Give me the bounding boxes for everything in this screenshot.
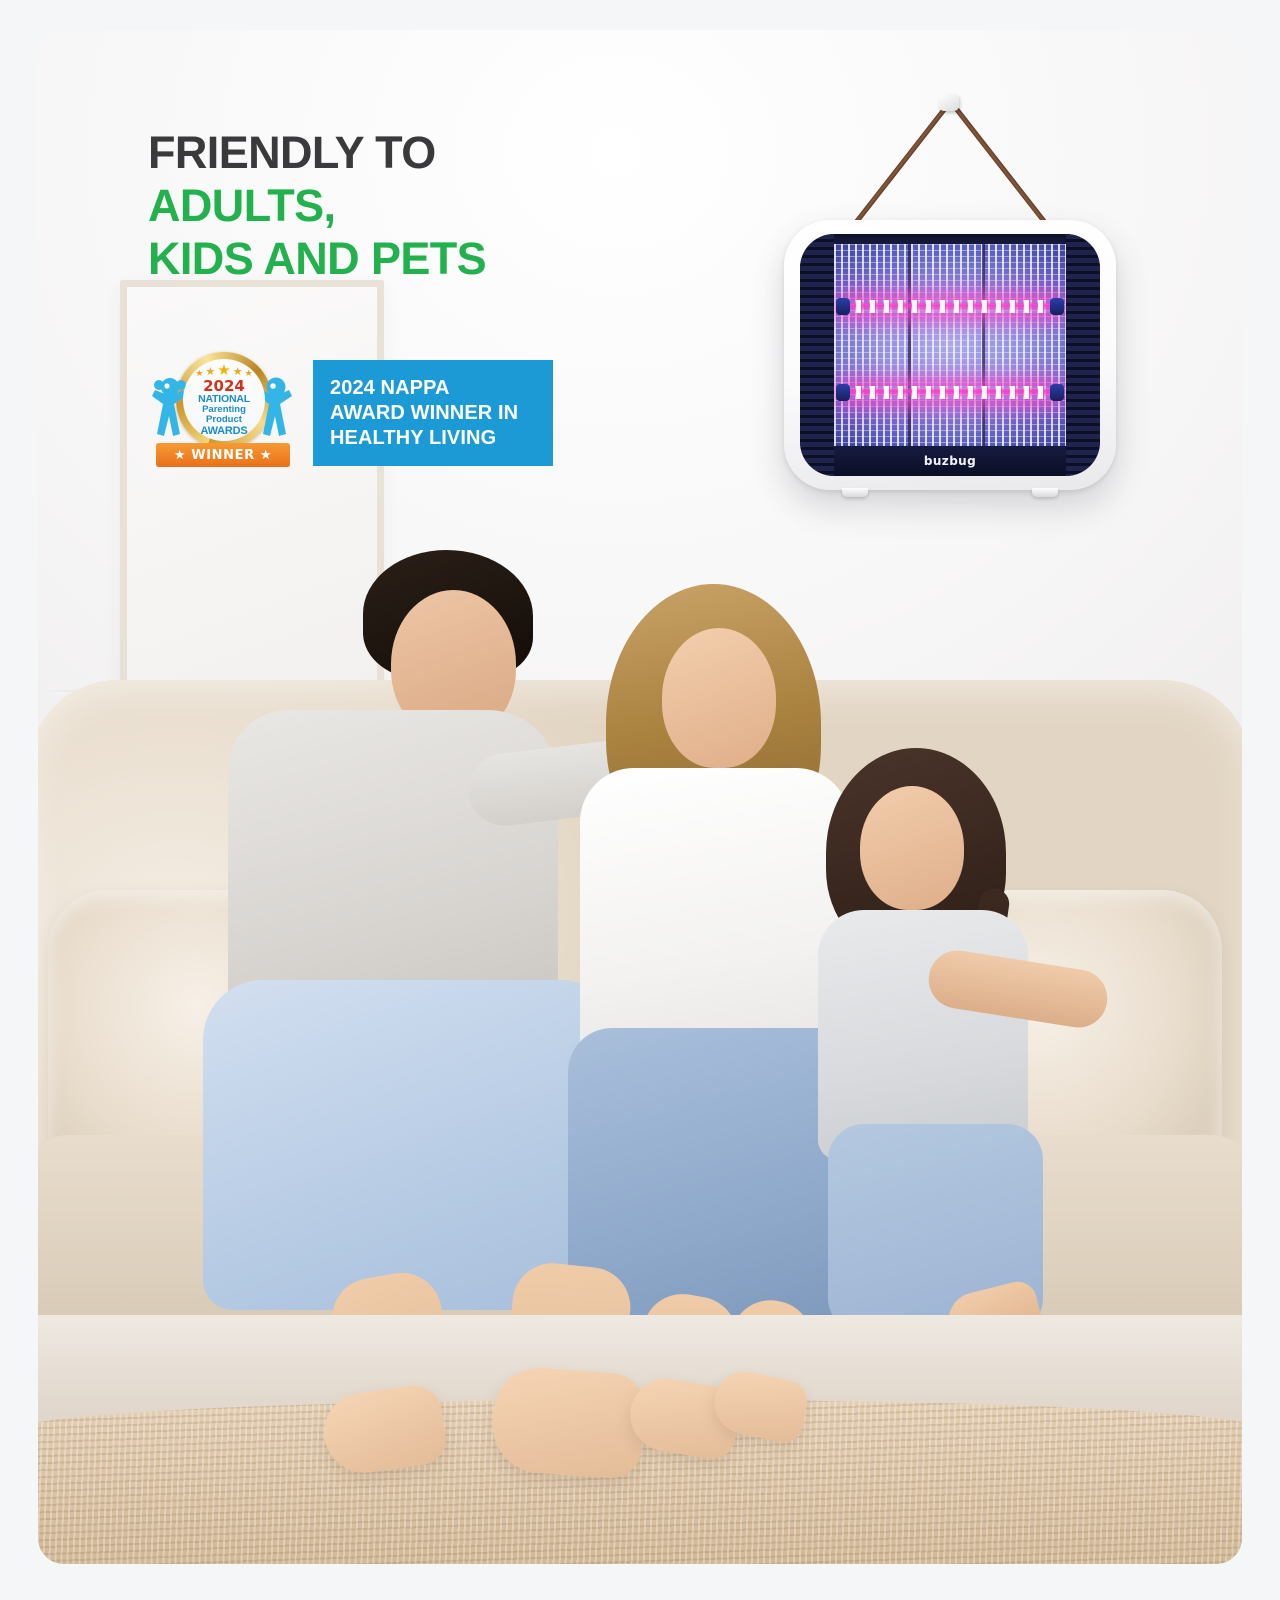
led-cap-top-left [836, 298, 850, 315]
uv-glow-grid [834, 244, 1066, 446]
bare-foot-2 [490, 1365, 647, 1480]
headline-line-1: FRIENDLY TO [148, 126, 486, 179]
grid-bar-2 [982, 244, 985, 446]
headline: FRIENDLY TO ADULTS, KIDS AND PETS [148, 126, 486, 285]
seal-line-awards: AWARDS [200, 425, 247, 437]
banner-line-3: HEALTHY LIVING [330, 426, 553, 451]
headline-line-2: ADULTS, [148, 179, 486, 232]
zapper-vent-left [800, 234, 834, 476]
seal-stars: ★ ★ ★ ★ ★ [195, 364, 252, 378]
zapper-housing: buzbug [800, 234, 1100, 476]
brand-logo: buzbug [924, 454, 976, 468]
hanging-strap-left [848, 102, 950, 231]
banner-line-2: AWARD WINNER IN [330, 401, 553, 426]
man-jeans [203, 980, 603, 1310]
hanging-strap-right [951, 102, 1053, 231]
winner-ribbon: ★ WINNER ★ [156, 443, 290, 467]
seal-face: ★ ★ ★ ★ ★ 2024 NATIONAL Parenting Produc… [183, 359, 265, 441]
grid-horizontal-wires [834, 244, 1066, 446]
led-cap-bottom-left [836, 384, 850, 401]
person-girl [798, 748, 1068, 1348]
girl-head [860, 786, 964, 910]
zapper-vent-right [1066, 234, 1100, 476]
seal-year: 2024 [203, 379, 245, 394]
zapper-foot-right [1032, 488, 1058, 497]
seal-line-product: Product [206, 415, 242, 425]
led-tube-bottom [842, 386, 1058, 399]
wall-hook-icon [939, 94, 959, 111]
nappa-award-banner: 2024 NAPPA AWARD WINNER IN HEALTHY LIVIN… [313, 360, 553, 466]
person-man [213, 530, 593, 1330]
woman-head [662, 628, 776, 768]
headline-line-3: KIDS AND PETS [148, 232, 486, 285]
lifestyle-photo-card: buzbug FRIENDLY TO ADULTS, KIDS AND PETS [38, 30, 1242, 1564]
product-marketing-image: buzbug FRIENDLY TO ADULTS, KIDS AND PETS [0, 0, 1280, 1600]
award-lockup: ★ ★ ★ ★ ★ 2024 NATIONAL Parenting Produc… [150, 352, 553, 470]
led-tube-top [842, 300, 1058, 313]
led-cap-bottom-right [1050, 384, 1064, 401]
zapper-foot-left [842, 488, 868, 497]
zapper-body: buzbug [784, 220, 1116, 490]
bug-zapper-product: buzbug [740, 80, 1160, 500]
star-icon-3: ★ [217, 363, 230, 378]
brand-bar: buzbug [834, 446, 1066, 476]
girl-top [818, 910, 1028, 1160]
led-cap-top-right [1050, 298, 1064, 315]
grid-bar-1 [908, 244, 911, 446]
star-icon-5: ★ [245, 369, 253, 378]
banner-line-1: 2024 NAPPA [330, 376, 553, 401]
nappa-seal-badge: ★ ★ ★ ★ ★ 2024 NATIONAL Parenting Produc… [150, 352, 296, 467]
